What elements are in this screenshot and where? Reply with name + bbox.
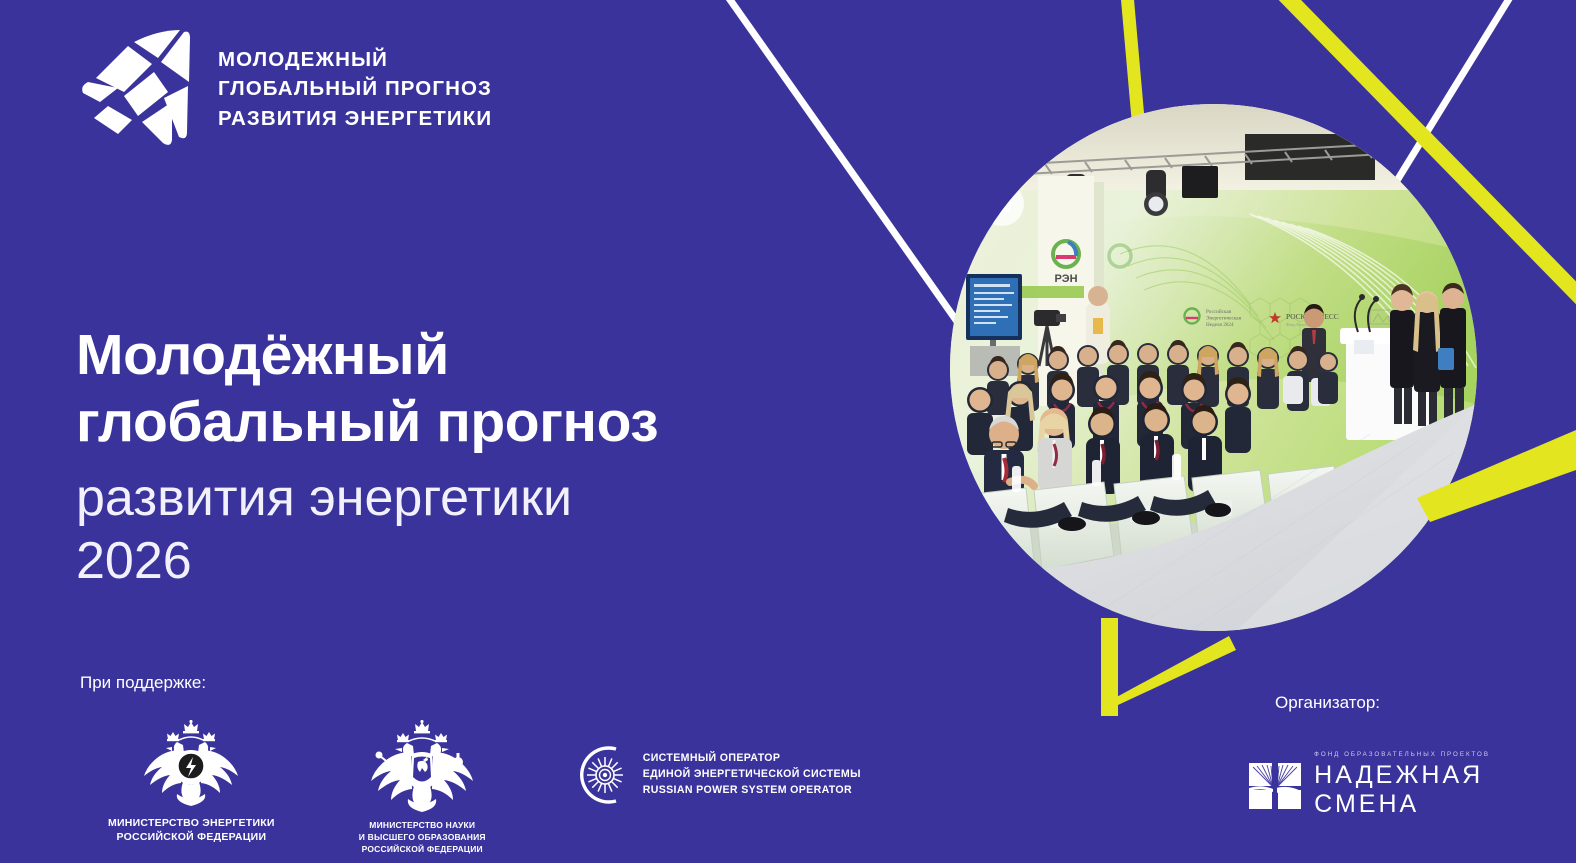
title-line-3: развития энергетики [76,467,658,530]
partner-system-operator: СИСТЕМНЫЙ ОПЕРАТОР ЕДИНОЙ ЭНЕРГЕТИЧЕСКОЙ… [572,744,861,806]
page-title: Молодёжный глобальный прогноз развития э… [76,322,658,592]
title-year: 2026 [76,530,658,592]
partner-minenergo: МИНИСТЕРСТВО ЭНЕРГЕТИКИ РОССИЙСКОЙ ФЕДЕР… [108,720,275,844]
mgpre-triangle-logo-icon [72,28,194,150]
brand-logo: МОЛОДЕЖНЫЙ ГЛОБАЛЬНЫЙ ПРОГНОЗ РАЗВИТИЯ Э… [72,28,492,150]
russian-coat-of-arms-icon [366,720,478,816]
open-book-icon [1247,759,1303,813]
yellow-chevron [1101,618,1118,716]
system-operator-sun-icon [572,744,634,806]
title-line-1: Молодёжный [76,322,658,389]
svg-text:Российская: Российская [1206,308,1232,315]
poster-canvas: РЭН [0,0,1576,863]
svg-text:Неделя 2024: Неделя 2024 [1206,322,1234,328]
partner-minobrnauki-label: МИНИСТЕРСТВО НАУКИ И ВЫСШЕГО ОБРАЗОВАНИЯ… [359,820,486,856]
russian-coat-of-arms-energy-icon [139,720,243,812]
partner-logos: МИНИСТЕРСТВО ЭНЕРГЕТИКИ РОССИЙСКОЙ ФЕДЕР… [80,720,861,856]
organizer-logo: ФОНД ОБРАЗОВАТЕЛЬНЫХ ПРОЕКТОВ НАДЕЖНАЯ С… [1247,752,1490,819]
white-line-left [726,0,963,330]
support-label: При поддержке: [80,673,206,693]
partner-minenergo-label: МИНИСТЕРСТВО ЭНЕРГЕТИКИ РОССИЙСКОЙ ФЕДЕР… [108,816,275,844]
organizer-label: Организатор: [1275,693,1380,713]
yellow-chevron-arm [1103,636,1236,712]
organizer-name: НАДЕЖНАЯ СМЕНА [1314,761,1490,819]
title-line-2: глобальный прогноз [76,389,658,456]
svg-text:РЭН: РЭН [1054,273,1077,285]
organizer-tagline: ФОНД ОБРАЗОВАТЕЛЬНЫХ ПРОЕКТОВ [1314,752,1490,758]
partner-system-operator-label: СИСТЕМНЫЙ ОПЕРАТОР ЕДИНОЙ ЭНЕРГЕТИЧЕСКОЙ… [643,751,861,799]
conference-photo-circle: РЭН [950,104,1477,631]
conference-hall-photo: РЭН [950,104,1477,631]
organizer-wordmark: ФОНД ОБРАЗОВАТЕЛЬНЫХ ПРОЕКТОВ НАДЕЖНАЯ С… [1314,752,1490,819]
svg-text:Энергетическая: Энергетическая [1206,316,1242,322]
brand-wordmark: МОЛОДЕЖНЫЙ ГЛОБАЛЬНЫЙ ПРОГНОЗ РАЗВИТИЯ Э… [218,45,492,132]
partner-minobrnauki: МИНИСТЕРСТВО НАУКИ И ВЫСШЕГО ОБРАЗОВАНИЯ… [359,720,486,856]
